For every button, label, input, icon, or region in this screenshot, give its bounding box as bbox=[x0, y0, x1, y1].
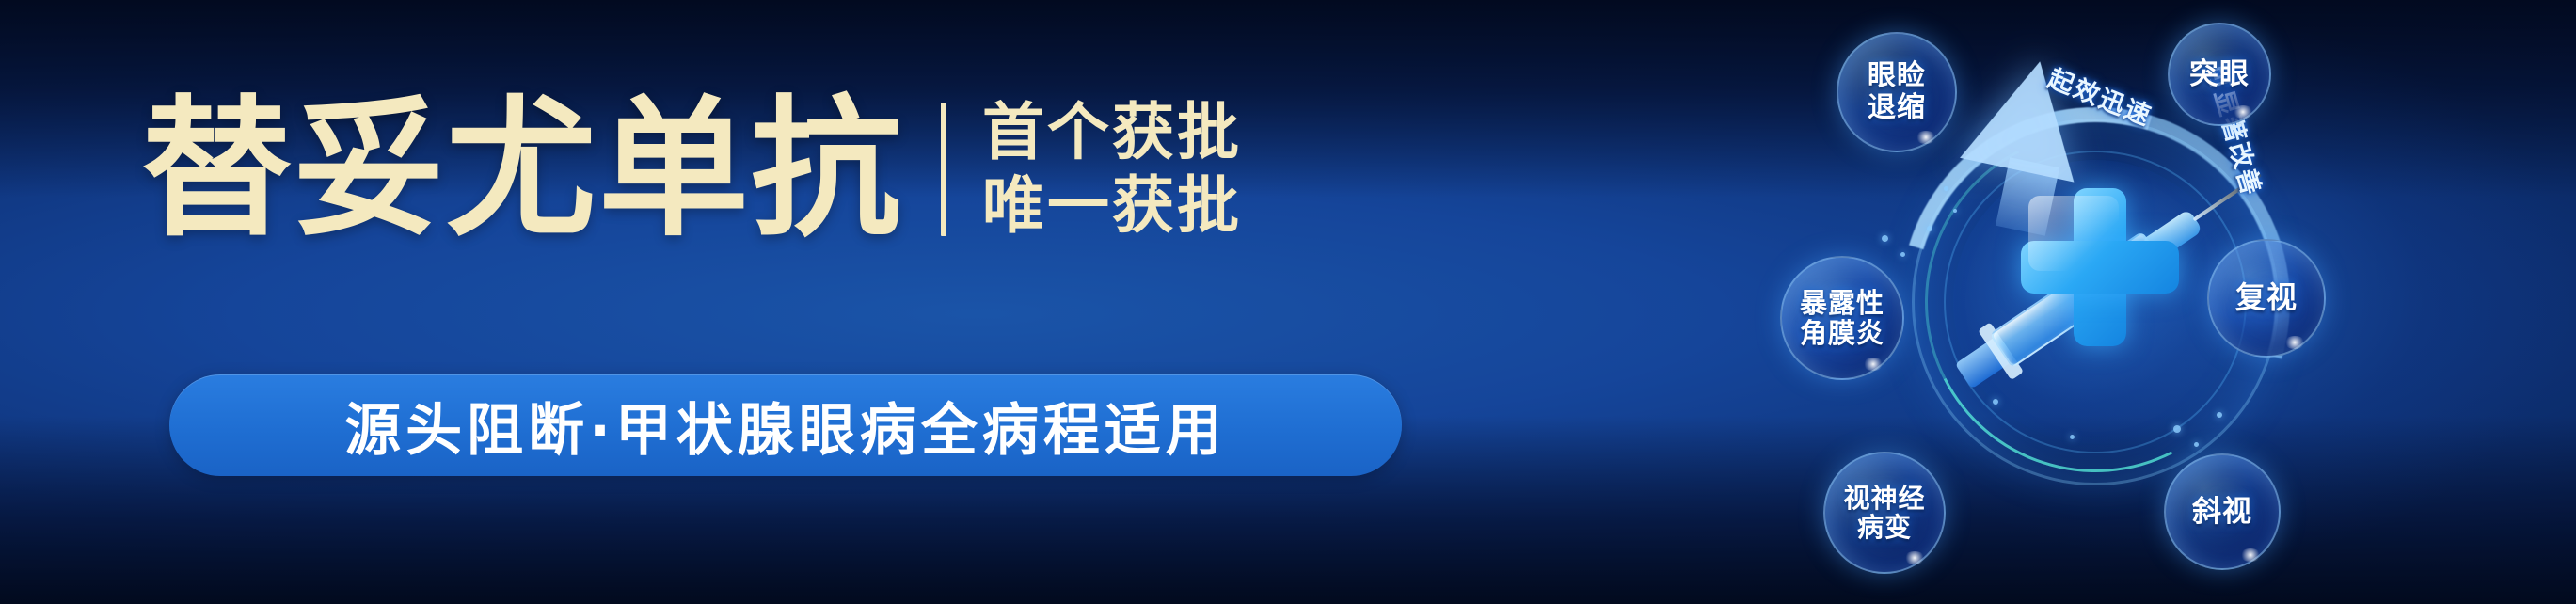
particle bbox=[2217, 412, 2222, 418]
symptom-bubble-label: 暴露性角膜炎 bbox=[1800, 288, 1884, 349]
approval-badge-group: 首个获批 唯一获批 bbox=[982, 100, 1242, 238]
cross-horizontal-bar bbox=[2021, 241, 2179, 294]
symptom-bubble-exposure-keratitis: 暴露性角膜炎 bbox=[1780, 256, 1904, 380]
symptom-bubble-label: 眼睑退缩 bbox=[1868, 60, 1926, 123]
symptom-bubble-label: 复视 bbox=[2235, 281, 2298, 315]
subtitle-pill: 源头阻断·甲状腺眼病全病程适用 bbox=[169, 374, 1402, 476]
particle bbox=[1993, 399, 1998, 405]
symptom-bubble-label: 突眼 bbox=[2189, 58, 2250, 91]
symptom-bubble-proptosis: 突眼 bbox=[2168, 23, 2271, 126]
particle bbox=[1900, 252, 1905, 257]
symptom-bubble-optic-neuropathy: 视神经病变 bbox=[1823, 452, 1946, 574]
illustration: 起效迅速 可显著改善 眼睑退缩 突眼 暴露性角膜炎 复视 视神经病变 斜视 bbox=[1769, 0, 2427, 604]
symptom-bubble-strabismus: 斜视 bbox=[2164, 453, 2281, 570]
subtitle-text: 源头阻断·甲状腺眼病全病程适用 bbox=[344, 385, 1227, 467]
headline-divider bbox=[941, 103, 946, 236]
approval-badge-line-1: 首个获批 bbox=[982, 100, 1242, 165]
medical-cross-icon bbox=[2021, 188, 2179, 346]
symptom-bubble-diplopia: 复视 bbox=[2207, 239, 2326, 358]
particle bbox=[1953, 209, 1957, 213]
symptom-bubble-eyelid-retraction: 眼睑退缩 bbox=[1837, 32, 1957, 152]
promo-banner: 替妥尤单抗 首个获批 唯一获批 源头阻断·甲状腺眼病全病程适用 bbox=[0, 0, 2576, 604]
symptom-bubble-label: 视神经病变 bbox=[1843, 484, 1925, 543]
symptom-bubble-label: 斜视 bbox=[2192, 496, 2252, 529]
headline-row: 替妥尤单抗 首个获批 唯一获批 bbox=[141, 68, 1477, 270]
particle bbox=[1882, 235, 1888, 242]
particle bbox=[2194, 442, 2199, 447]
particle bbox=[2070, 435, 2075, 439]
particle bbox=[1944, 186, 1948, 191]
particle bbox=[2173, 425, 2181, 433]
page-title: 替妥尤单抗 bbox=[141, 94, 903, 245]
particle bbox=[1927, 226, 1932, 231]
approval-badge-line-2: 唯一获批 bbox=[982, 173, 1242, 238]
